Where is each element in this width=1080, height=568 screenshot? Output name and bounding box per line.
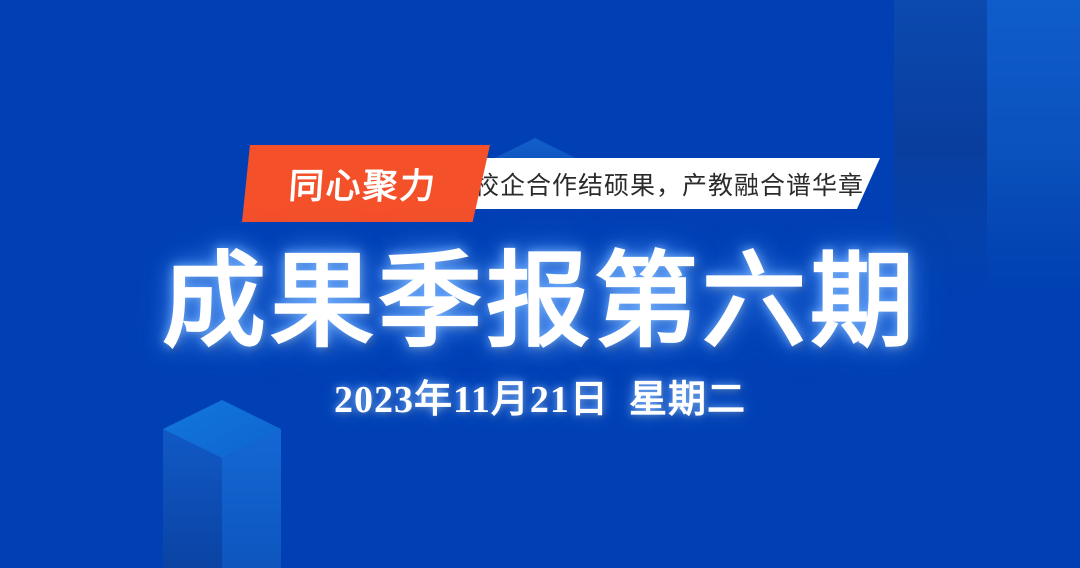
date-full: 2023年11月21日 — [334, 379, 609, 421]
page-title: 成果季报第六期 — [0, 248, 1080, 358]
poster-canvas: 校企合作结硕果，产教融合谱华章 同心聚力 成果季报第六期 2023年11月21日… — [0, 0, 1080, 568]
date-weekday: 星期二 — [629, 379, 746, 421]
decor-cube-bottom-left-icon — [163, 400, 281, 568]
banner-subtitle: 校企合作结硕果，产教融合谱华章 — [474, 158, 874, 209]
banner-tag-label: 同心聚力 — [287, 158, 445, 209]
banner-orange-tag: 同心聚力 — [242, 145, 490, 222]
date-line: 2023年11月21日星期二 — [0, 368, 1080, 423]
headline-banner: 校企合作结硕果，产教融合谱华章 同心聚力 — [0, 140, 1080, 226]
